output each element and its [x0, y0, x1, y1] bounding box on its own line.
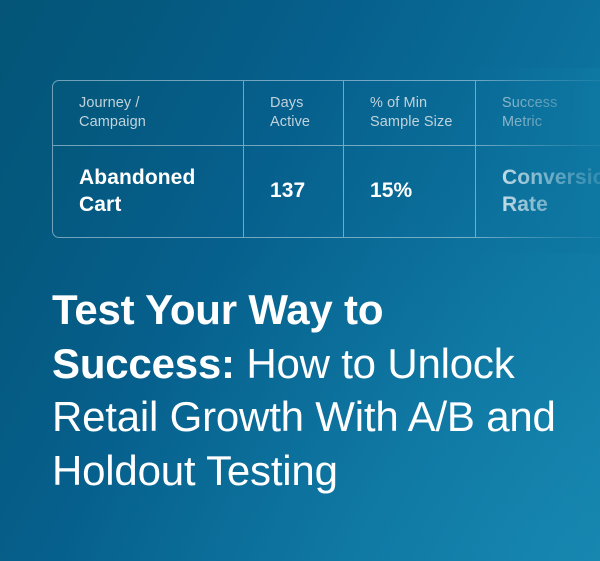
column-header-pct-min-sample-line1: % of Min: [370, 94, 475, 113]
column-header-journey-campaign-line2: Campaign: [79, 113, 243, 132]
column-header-success-metric-line2: Metric: [502, 113, 600, 132]
column-header-success-metric-line1: Success: [502, 94, 600, 113]
cell-days-active: 137: [244, 146, 344, 237]
metrics-table-container: Journey / Campaign Days Active % of Min …: [52, 80, 600, 237]
column-header-journey-campaign: Journey / Campaign: [53, 81, 244, 146]
column-header-pct-min-sample-line2: Sample Size: [370, 113, 475, 132]
cell-success-metric: Conversion Rate: [476, 146, 600, 237]
column-header-days-active-line2: Active: [270, 113, 343, 132]
table-header: Journey / Campaign Days Active % of Min …: [53, 81, 600, 146]
table-row: Abandoned Cart 137 15% Conversion Rate: [53, 146, 600, 237]
cell-journey-campaign-line2: Cart: [79, 192, 243, 219]
metrics-table: Journey / Campaign Days Active % of Min …: [52, 80, 600, 238]
cell-journey-campaign: Abandoned Cart: [53, 146, 244, 237]
cell-success-metric-line2: Rate: [502, 192, 600, 219]
cell-journey-campaign-line1: Abandoned: [79, 165, 243, 192]
cell-success-metric-line1: Conversion: [502, 165, 600, 192]
column-header-pct-min-sample: % of Min Sample Size: [344, 81, 476, 146]
column-header-success-metric: Success Metric: [476, 81, 600, 146]
column-header-days-active: Days Active: [244, 81, 344, 146]
table-body: Abandoned Cart 137 15% Conversion Rate: [53, 146, 600, 237]
column-header-days-active-line1: Days: [270, 94, 343, 113]
cell-pct-min-sample: 15%: [344, 146, 476, 237]
table-header-row: Journey / Campaign Days Active % of Min …: [53, 81, 600, 146]
column-header-journey-campaign-line1: Journey /: [79, 94, 243, 113]
page-title: Test Your Way to Success: How to Unlock …: [52, 283, 572, 497]
